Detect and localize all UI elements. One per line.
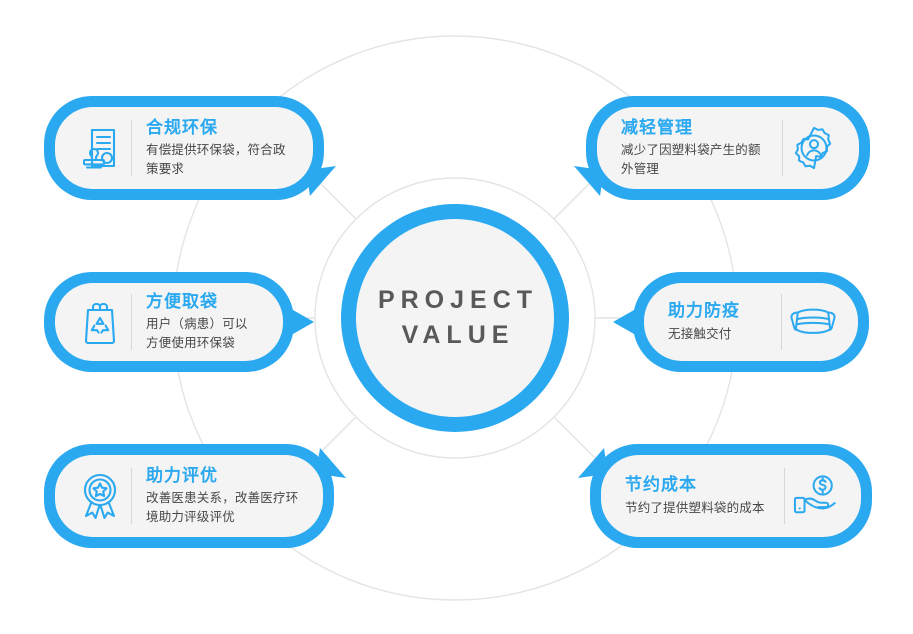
card-body: 减轻管理 减少了因塑料袋产生的额外管理 — [597, 107, 859, 189]
hub-inner: PROJECT VALUE — [356, 219, 554, 417]
card-tail — [286, 306, 314, 338]
document-stamp-icon — [69, 125, 131, 171]
hand-money-icon — [785, 474, 847, 518]
face-mask-icon — [782, 303, 844, 341]
hub-title-line1: PROJECT — [372, 283, 538, 319]
card-body: 助力评优 改善医患关系，改善医疗环境助力评级评优 — [55, 455, 323, 537]
card-description: 有偿提供环保袋，符合政策要求 — [146, 141, 289, 179]
card-text: 合规环保 有偿提供环保袋，符合政策要求 — [132, 117, 299, 179]
card-compliance[interactable]: 合规环保 有偿提供环保袋，符合政策要求 — [44, 96, 324, 200]
card-cost[interactable]: 节约成本 节约了提供塑料袋的成本 — [590, 444, 872, 548]
card-description: 无接触交付 — [668, 325, 767, 344]
card-description: 节约了提供塑料袋的成本 — [625, 499, 770, 518]
project-value-hub: PROJECT VALUE — [341, 204, 569, 432]
gear-person-icon — [783, 125, 845, 171]
award-medal-icon — [69, 472, 131, 520]
card-body: 节约成本 节约了提供塑料袋的成本 — [601, 455, 861, 537]
card-description: 用户（病患）可以方便使用环保袋 — [146, 315, 259, 353]
card-description: 减少了因塑料袋产生的额外管理 — [621, 141, 768, 179]
card-management[interactable]: 减轻管理 减少了因塑料袋产生的额外管理 — [586, 96, 870, 200]
hub-title-line2: VALUE — [396, 318, 515, 354]
card-tail — [306, 166, 339, 196]
card-rating[interactable]: 助力评优 改善医患关系，改善医疗环境助力评级评优 — [44, 444, 334, 548]
project-value-infographic: PROJECT VALUE 合规 — [0, 0, 913, 634]
card-convenience[interactable]: 方便取袋 用户（病患）可以方便使用环保袋 — [44, 272, 294, 372]
card-description: 改善医患关系，改善医疗环境助力评级评优 — [146, 489, 299, 527]
card-text: 助力评优 改善医患关系，改善医疗环境助力评级评优 — [132, 465, 309, 527]
card-title: 方便取袋 — [146, 291, 259, 312]
card-tail — [316, 448, 349, 478]
card-title: 节约成本 — [625, 474, 770, 495]
card-text: 方便取袋 用户（病患）可以方便使用环保袋 — [132, 291, 269, 353]
card-body: 助力防疫 无接触交付 — [644, 283, 858, 361]
card-body: 合规环保 有偿提供环保袋，符合政策要求 — [55, 107, 313, 189]
card-epidemic[interactable]: 助力防疫 无接触交付 — [633, 272, 869, 372]
card-text: 减轻管理 减少了因塑料袋产生的额外管理 — [611, 117, 782, 179]
card-title: 合规环保 — [146, 117, 289, 138]
recycle-bag-icon — [69, 299, 131, 345]
card-tail — [570, 166, 603, 196]
card-title: 减轻管理 — [621, 117, 768, 138]
card-tail — [613, 306, 641, 338]
card-title: 助力评优 — [146, 465, 299, 486]
card-text: 节约成本 节约了提供塑料袋的成本 — [615, 474, 784, 517]
card-title: 助力防疫 — [668, 300, 767, 321]
card-text: 助力防疫 无接触交付 — [658, 300, 781, 343]
card-tail — [574, 448, 607, 478]
card-body: 方便取袋 用户（病患）可以方便使用环保袋 — [55, 283, 283, 361]
